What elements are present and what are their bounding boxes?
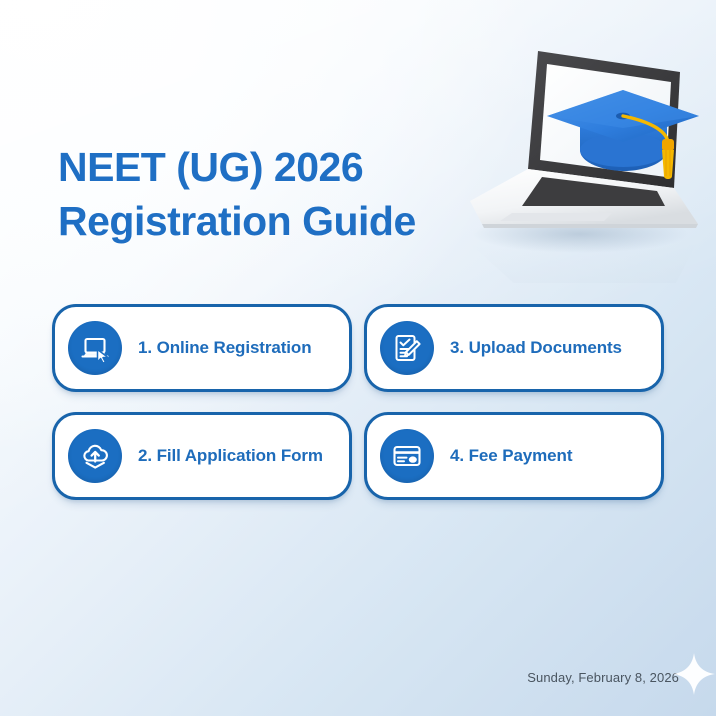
laptop-cursor-icon bbox=[68, 321, 122, 375]
steps-grid: 1. Online Registration 3. Upload Documen… bbox=[52, 304, 664, 500]
credit-card-icon bbox=[380, 429, 434, 483]
step-card-fill-application-form[interactable]: 2. Fill Application Form bbox=[52, 412, 352, 500]
footer-date: Sunday, February 8, 2026 bbox=[527, 670, 679, 685]
step-card-label: 3. Upload Documents bbox=[450, 338, 622, 358]
document-pencil-icon bbox=[380, 321, 434, 375]
step-card-online-registration[interactable]: 1. Online Registration bbox=[52, 304, 352, 392]
step-card-fee-payment[interactable]: 4. Fee Payment bbox=[364, 412, 664, 500]
cloud-upload-icon bbox=[68, 429, 122, 483]
step-card-label: 1. Online Registration bbox=[138, 338, 312, 358]
laptop-graduation-cap-illustration bbox=[452, 38, 714, 283]
step-card-label: 4. Fee Payment bbox=[450, 446, 572, 466]
step-card-upload-documents[interactable]: 3. Upload Documents bbox=[364, 304, 664, 392]
poster-canvas: NEET (UG) 2026 Registration Guide bbox=[0, 0, 716, 716]
step-card-label: 2. Fill Application Form bbox=[138, 446, 323, 466]
page-title: NEET (UG) 2026 Registration Guide bbox=[58, 140, 478, 248]
page-title-line-1: NEET (UG) 2026 bbox=[58, 140, 478, 194]
page-title-line-2: Registration Guide bbox=[58, 194, 478, 248]
